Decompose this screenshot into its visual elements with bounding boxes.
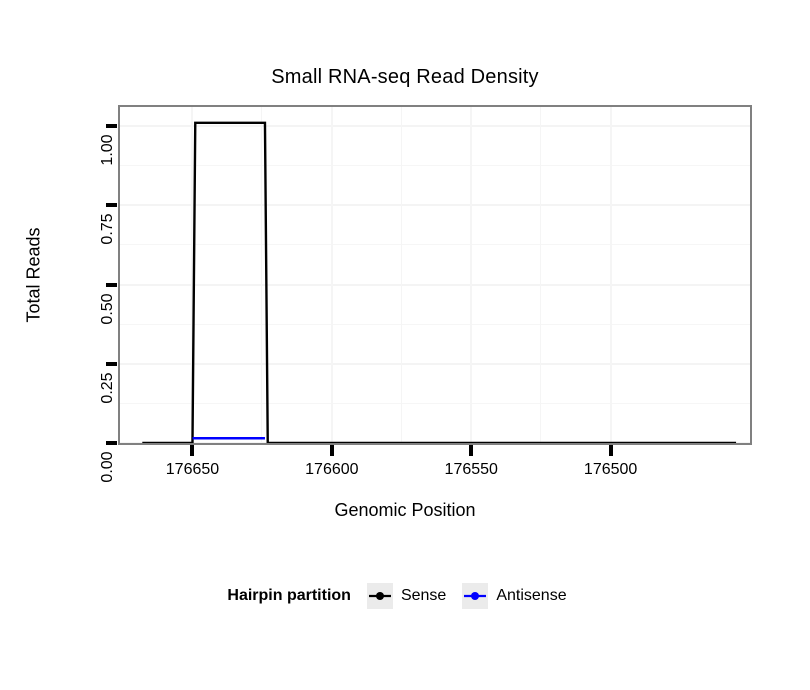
legend: Hairpin partition Sense Antisense [0, 583, 810, 609]
series-svg [120, 107, 750, 443]
y-tick-label: 0.50 [99, 284, 117, 334]
x-tick-mark [190, 445, 194, 456]
x-tick-mark [330, 445, 334, 456]
legend-item-sense[interactable]: Sense [367, 583, 446, 609]
y-axis-title: Total Reads [24, 227, 45, 322]
x-tick-label: 176650 [166, 461, 219, 479]
legend-label-sense: Sense [401, 587, 446, 605]
legend-key-sense-icon [367, 583, 393, 609]
x-axis-title: Genomic Position [0, 500, 810, 521]
x-tick-mark [469, 445, 473, 456]
chart-title: Small RNA-seq Read Density [0, 66, 810, 89]
series-line-sense [142, 123, 736, 443]
plot-panel [118, 105, 752, 445]
x-tick-label: 176600 [305, 461, 358, 479]
x-tick-label: 176500 [584, 461, 637, 479]
y-tick-label: 0.75 [99, 204, 117, 254]
x-tick-mark [609, 445, 613, 456]
legend-label-antisense: Antisense [496, 587, 566, 605]
y-tick-label: 0.25 [99, 363, 117, 413]
y-tick-label: 1.00 [99, 125, 117, 175]
legend-key-antisense-icon [462, 583, 488, 609]
x-tick-label: 176550 [445, 461, 498, 479]
legend-item-antisense[interactable]: Antisense [462, 583, 566, 609]
y-tick-label: 0.00 [99, 442, 117, 492]
data-series-layer [120, 107, 750, 443]
legend-title: Hairpin partition [227, 587, 351, 605]
